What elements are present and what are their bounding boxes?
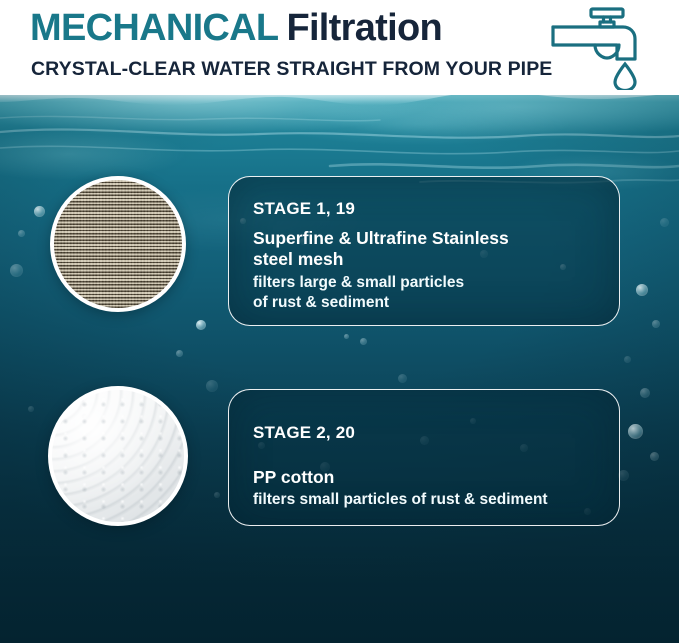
stainless-steel-mesh-sample (50, 176, 186, 312)
title-main-text: MECHANICAL (30, 7, 278, 49)
stage-1-description: filters large & small particles of rust … (253, 273, 601, 313)
stage-2-desc-line-1: filters small particles of rust & sedime… (253, 490, 601, 510)
stage-2-heading-line-1: PP cotton (253, 467, 601, 488)
page-subtitle: CRYSTAL-CLEAR WATER STRAIGHT FROM YOUR P… (31, 58, 552, 81)
stage-card-2-content: STAGE 2, 20 PP cotton filters small part… (253, 423, 601, 510)
water-bubbles (0, 88, 679, 643)
stage-1-desc-line-1: filters large & small particles (253, 273, 601, 293)
faucet-icon (547, 6, 657, 90)
stage-1-heading-line-2: steel mesh (253, 249, 601, 270)
stage-1-desc-line-2: of rust & sediment (253, 293, 601, 313)
stage-2-heading: PP cotton (253, 467, 601, 488)
stage-1-label: STAGE 1, 19 (253, 199, 601, 219)
stage-card-1: STAGE 1, 19 Superfine & Ultrafine Stainl… (228, 176, 620, 326)
stage-card-1-content: STAGE 1, 19 Superfine & Ultrafine Stainl… (253, 199, 601, 313)
water-background (0, 88, 679, 643)
infographic-poster: MECHANICALFiltration CRYSTAL-CLEAR WATER… (0, 0, 679, 643)
title-accent-text: Filtration (286, 7, 442, 49)
pp-cotton-sample (48, 386, 188, 526)
water-drop-icon (615, 64, 635, 90)
stage-2-description: filters small particles of rust & sedime… (253, 490, 601, 510)
water-vignette (0, 88, 679, 643)
stage-card-2: STAGE 2, 20 PP cotton filters small part… (228, 389, 620, 526)
stage-1-heading-line-1: Superfine & Ultrafine Stainless (253, 228, 601, 249)
cotton-texture-highlight (52, 390, 184, 522)
stage-1-heading: Superfine & Ultrafine Stainless steel me… (253, 228, 601, 271)
page-title: MECHANICALFiltration (30, 9, 442, 47)
header: MECHANICALFiltration CRYSTAL-CLEAR WATER… (0, 0, 679, 95)
stage-2-label: STAGE 2, 20 (253, 423, 601, 443)
